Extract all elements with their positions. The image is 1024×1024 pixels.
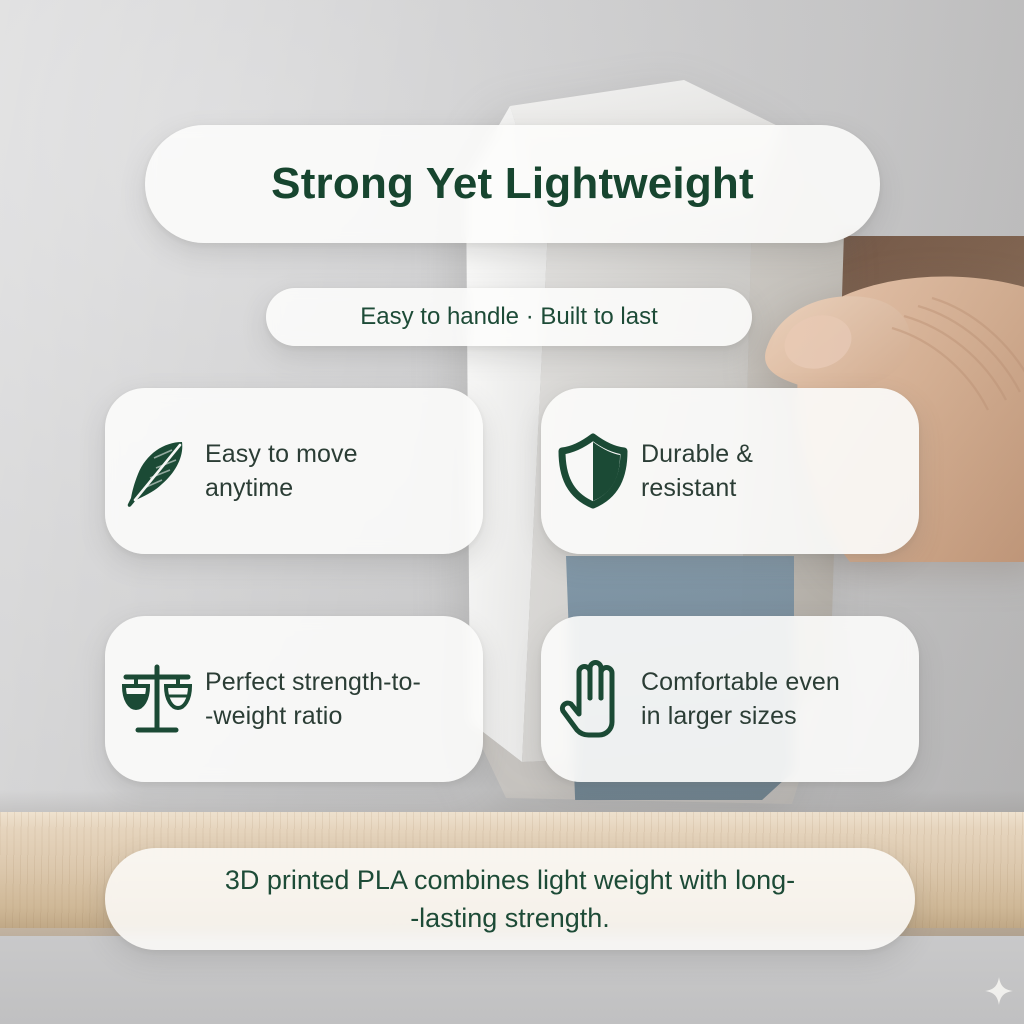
feature-label: Comfortable even in larger sizes [641, 665, 840, 734]
feature-card-comfortable[interactable]: Comfortable even in larger sizes [541, 616, 919, 782]
shield-icon [541, 388, 645, 554]
hand-icon [541, 616, 645, 782]
infographic-stage: Strong Yet Lightweight Easy to handle · … [0, 0, 1024, 1024]
page-title: Strong Yet Lightweight [271, 159, 754, 209]
sparkle-icon [984, 976, 1014, 1006]
feature-label: Perfect strength-to- -weight ratio [205, 665, 421, 734]
feature-card-easy-to-move[interactable]: Easy to move anytime [105, 388, 483, 554]
title-pill: Strong Yet Lightweight [145, 125, 880, 243]
feature-label: Easy to move anytime [205, 437, 358, 506]
scales-icon [105, 616, 209, 782]
feature-label: Durable & resistant [641, 437, 753, 506]
feather-icon [105, 388, 209, 554]
page-subtitle: Easy to handle · Built to last [360, 303, 658, 331]
subtitle-pill: Easy to handle · Built to last [266, 288, 752, 346]
caption-pill: 3D printed PLA combines light weight wit… [105, 848, 915, 950]
feature-card-durable[interactable]: Durable & resistant [541, 388, 919, 554]
caption-text: 3D printed PLA combines light weight wit… [225, 861, 795, 938]
feature-card-strength-to-weight[interactable]: Perfect strength-to- -weight ratio [105, 616, 483, 782]
